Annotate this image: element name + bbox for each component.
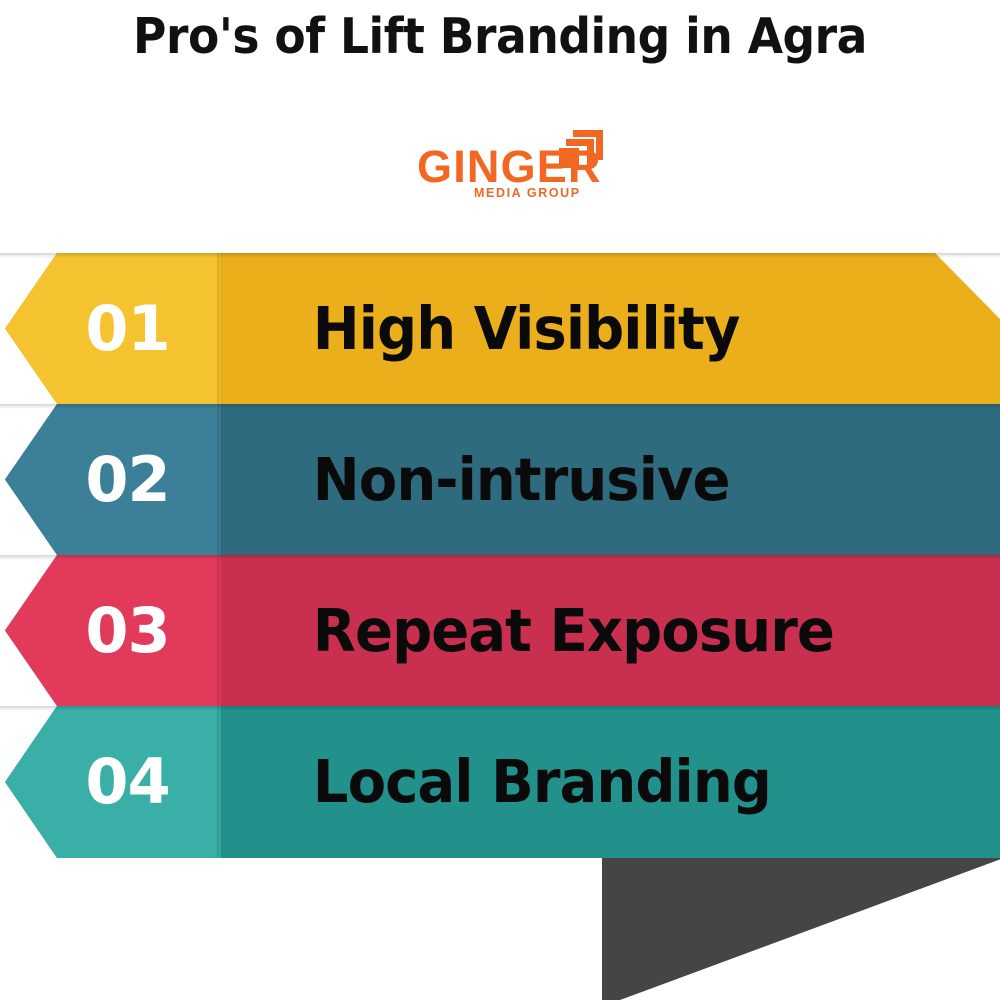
band-row-01[interactable]: 01 High Visibility (0, 253, 1000, 404)
band-number-01: 01 (0, 253, 221, 404)
band-list: 01 High Visibility 02 Non-intrusive 03 R… (0, 253, 1000, 858)
band-row-03[interactable]: 03 Repeat Exposure (0, 555, 1000, 706)
band-label-03: Repeat Exposure (232, 555, 972, 706)
page-title: Pro's of Lift Branding in Agra (35, 8, 965, 65)
band-number-03: 03 (0, 555, 221, 706)
logo-tagline: MEDIA GROUP (474, 187, 581, 200)
band-number-04: 04 (0, 706, 221, 857)
logo: GINGER MEDIA GROUP (417, 130, 617, 212)
band-row-04[interactable]: 04 Local Branding (0, 706, 1000, 857)
bottom-decorative-wedge (600, 858, 1000, 1000)
band-label-01: High Visibility (232, 253, 972, 404)
band-row-02[interactable]: 02 Non-intrusive (0, 404, 1000, 555)
nested-corner-bracket-icon (559, 130, 603, 172)
band-number-02: 02 (0, 404, 221, 555)
band-label-04: Local Branding (232, 706, 972, 857)
band-label-02: Non-intrusive (232, 404, 972, 555)
